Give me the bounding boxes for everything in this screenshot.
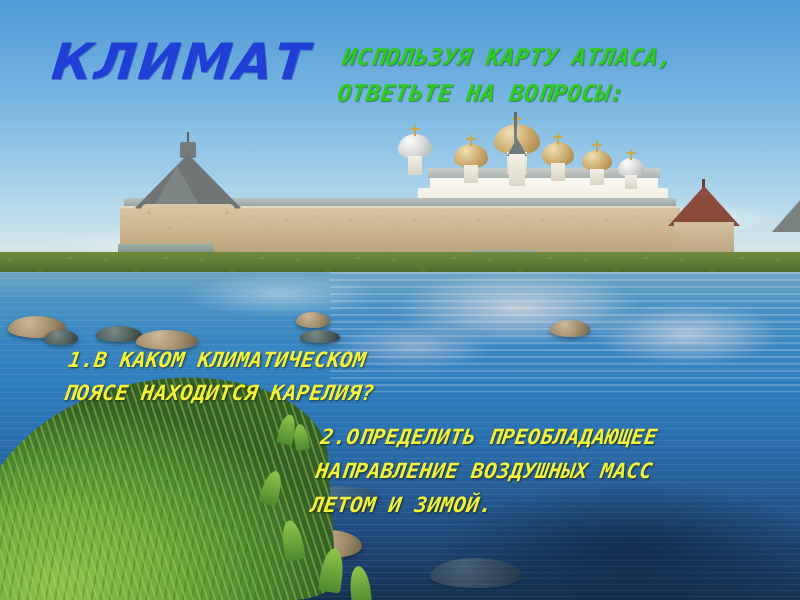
question-1: 1.В КАКОМ КЛИМАТИЧЕСКОМ ПОЯСЕ НАХОДИТСЯ … — [61, 344, 381, 409]
instruction-line-1: ИСПОЛЬЗУЯ КАРТУ АТЛАСА, — [340, 40, 675, 76]
question-2-line-2: НАПРАВЛЕНИЕ ВОЗДУШНЫХ МАСС — [314, 454, 655, 488]
slide-text-layer: КЛИМАТ ИСПОЛЬЗУЯ КАРТУ АТЛАСА, ОТВЕТЬТЕ … — [0, 0, 800, 600]
presentation-slide: КЛИМАТ ИСПОЛЬЗУЯ КАРТУ АТЛАСА, ОТВЕТЬТЕ … — [0, 0, 800, 600]
instruction-text: ИСПОЛЬЗУЯ КАРТУ АТЛАСА, ОТВЕТЬТЕ НА ВОПР… — [335, 40, 675, 113]
instruction-line-2: ОТВЕТЬТЕ НА ВОПРОСЫ: — [335, 76, 670, 112]
question-2: 2.ОПРЕДЕЛИТЬ ПРЕОБЛАДАЮЩЕЕ НАПРАВЛЕНИЕ В… — [309, 420, 660, 522]
slide-title: КЛИМАТ — [49, 36, 313, 89]
question-1-line-1: 1.В КАКОМ КЛИМАТИЧЕСКОМ — [66, 344, 381, 377]
question-2-line-3: ЛЕТОМ И ЗИМОЙ. — [309, 488, 650, 522]
question-2-line-1: 2.ОПРЕДЕЛИТЬ ПРЕОБЛАДАЮЩЕЕ — [318, 420, 659, 454]
question-1-line-2: ПОЯСЕ НАХОДИТСЯ КАРЕЛИЯ? — [61, 377, 376, 410]
